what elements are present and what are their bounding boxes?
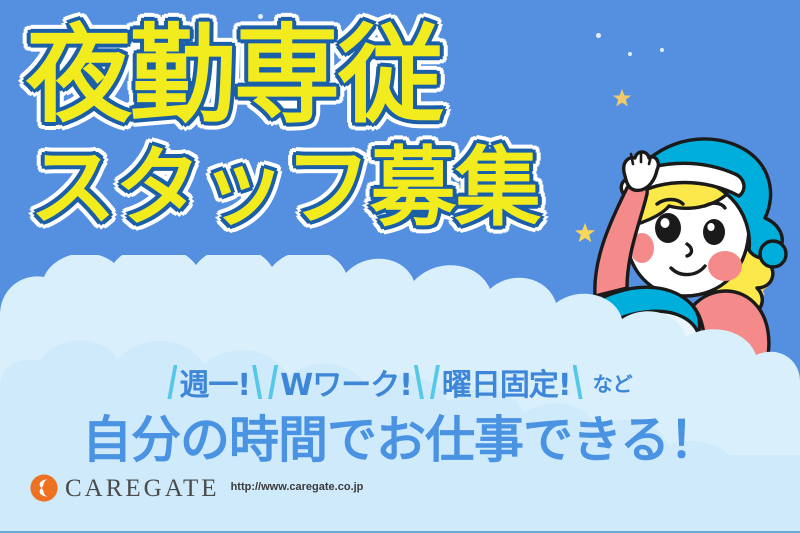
tagline-row: 週一! Wワーク! 曜日固定! など [0,360,800,404]
nado-label: など [593,368,633,397]
star-dot-icon [660,48,664,52]
star-dot-icon [325,22,329,26]
tag-label-0: 週一! [179,360,250,404]
recruitment-banner: 夜勤専従 スタッフ募集 [0,0,800,533]
star-dot-icon [596,33,601,38]
slash-left-icon [268,365,278,399]
slash-right-icon [573,365,583,399]
caregate-logo[interactable]: CAREGATE http://www.caregate.co.jp [30,474,363,502]
logo-wordmark: CAREGATE [65,476,220,501]
star-icon [612,88,632,113]
bottom-message-area: 週一! Wワーク! 曜日固定! など 自分の時間でお仕事できる！ [0,352,800,533]
tag-chip-0: 週一! [167,360,262,404]
headline-text: 自分の時間でお仕事できる！ [0,400,800,472]
caregate-logo-icon [30,474,58,502]
slash-right-icon [252,365,262,399]
tag-chip-2: 曜日固定! [430,360,583,404]
logo-url: http://www.caregate.co.jp [231,481,364,495]
star-dot-icon [510,196,514,200]
tag-label-1: Wワーク! [280,360,412,404]
tag-chip-1: Wワーク! [268,360,424,404]
slash-left-icon [430,365,440,399]
star-icon [155,22,181,53]
star-dot-icon [258,14,263,19]
star-dot-icon [628,52,632,56]
tag-label-2: 曜日固定! [442,360,571,404]
slash-left-icon [167,365,177,399]
slash-right-icon [414,365,424,399]
star-dot-icon [294,32,298,36]
